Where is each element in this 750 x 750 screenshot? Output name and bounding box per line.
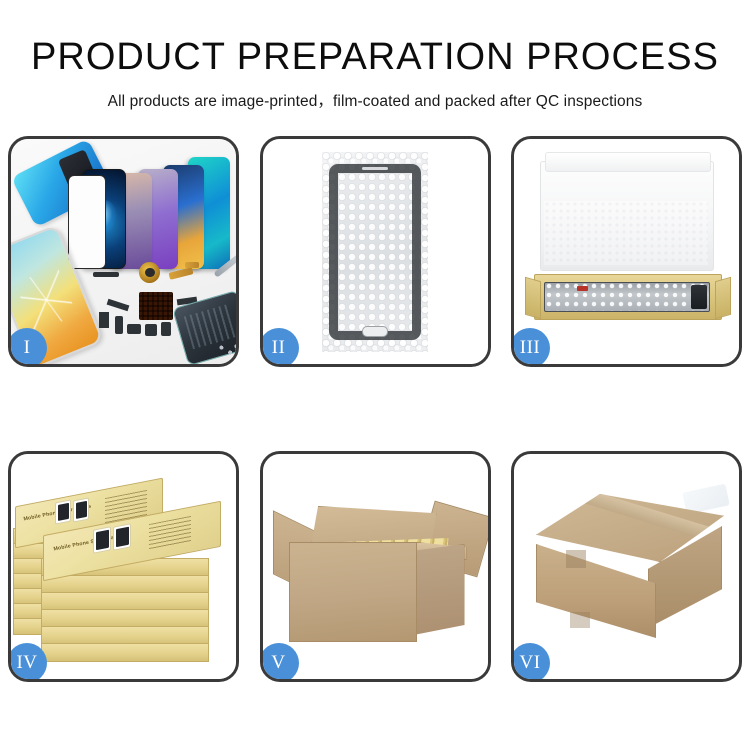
page-subtitle: All products are image-printed，film-coat… — [0, 94, 750, 110]
step-image-6 — [514, 454, 739, 679]
step-badge-5: V — [260, 643, 299, 682]
screen-glass-icon — [329, 164, 421, 340]
wrapped-screen-icon — [544, 282, 710, 312]
step-panel-3[interactable]: III — [511, 136, 742, 367]
step-panel-4[interactable]: Mobile Phone Spare Parts Mobile — [8, 451, 239, 682]
step-badge-2: II — [260, 328, 299, 367]
step-image-1 — [11, 139, 236, 364]
step-panel-1[interactable]: I — [8, 136, 239, 367]
header: PRODUCT PREPARATION PROCESS All products… — [0, 0, 750, 110]
step-image-2 — [263, 139, 488, 364]
step-image-3 — [514, 139, 739, 364]
product-preparation-infographic: PRODUCT PREPARATION PROCESS All products… — [0, 0, 750, 750]
spare-parts-icon — [93, 258, 236, 358]
steps-grid: I II — [0, 136, 750, 682]
step-badge-6: VI — [511, 643, 550, 682]
step-badge-3: III — [511, 328, 550, 367]
steps-row-1: I II — [0, 136, 750, 367]
step-panel-2[interactable]: II — [260, 136, 491, 367]
step-image-5 — [263, 454, 488, 679]
step-badge-4: IV — [8, 643, 47, 682]
step-badge-1: I — [8, 328, 47, 367]
sealed-carton-icon — [536, 494, 722, 640]
step-panel-6[interactable]: VI — [511, 451, 742, 682]
stacked-boxes-icon: Mobile Phone Spare Parts Mobile — [13, 480, 236, 670]
foam-sheet-icon — [544, 201, 708, 265]
page-title: PRODUCT PREPARATION PROCESS — [0, 38, 750, 76]
open-carton-icon — [289, 512, 465, 642]
steps-row-2: Mobile Phone Spare Parts Mobile — [0, 451, 750, 682]
phone-lineup-icon — [72, 149, 232, 269]
step-panel-5[interactable]: V — [260, 451, 491, 682]
step-image-4: Mobile Phone Spare Parts Mobile — [11, 454, 236, 679]
